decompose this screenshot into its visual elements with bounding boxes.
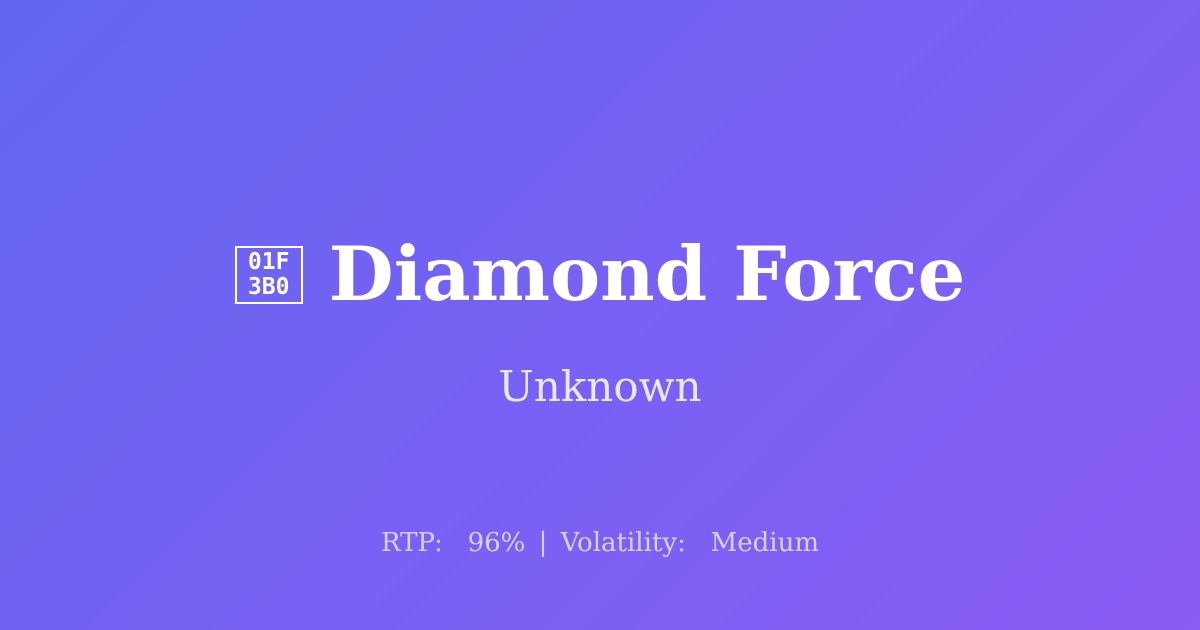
card-meta-line: RTP: 96% | Volatility: Medium xyxy=(0,527,1200,559)
page-title: Diamond Force xyxy=(329,232,966,316)
volatility-label: Volatility: xyxy=(561,528,686,558)
volatility-value: Medium xyxy=(711,528,819,558)
tofu-codepoint-row-top: 01F xyxy=(248,250,290,275)
slot-machine-icon: 01F 3B0 xyxy=(235,246,303,304)
meta-separator: | xyxy=(534,528,553,558)
rtp-value: 96% xyxy=(468,528,526,558)
hero-row: 01F 3B0 Diamond Force xyxy=(0,232,1200,316)
rtp-label: RTP: xyxy=(381,528,443,558)
og-preview-card: 01F 3B0 Diamond Force Unknown RTP: 96% |… xyxy=(0,0,1200,630)
card-subtitle: Unknown xyxy=(0,362,1200,412)
tofu-codepoint-row-bottom: 3B0 xyxy=(248,275,290,300)
